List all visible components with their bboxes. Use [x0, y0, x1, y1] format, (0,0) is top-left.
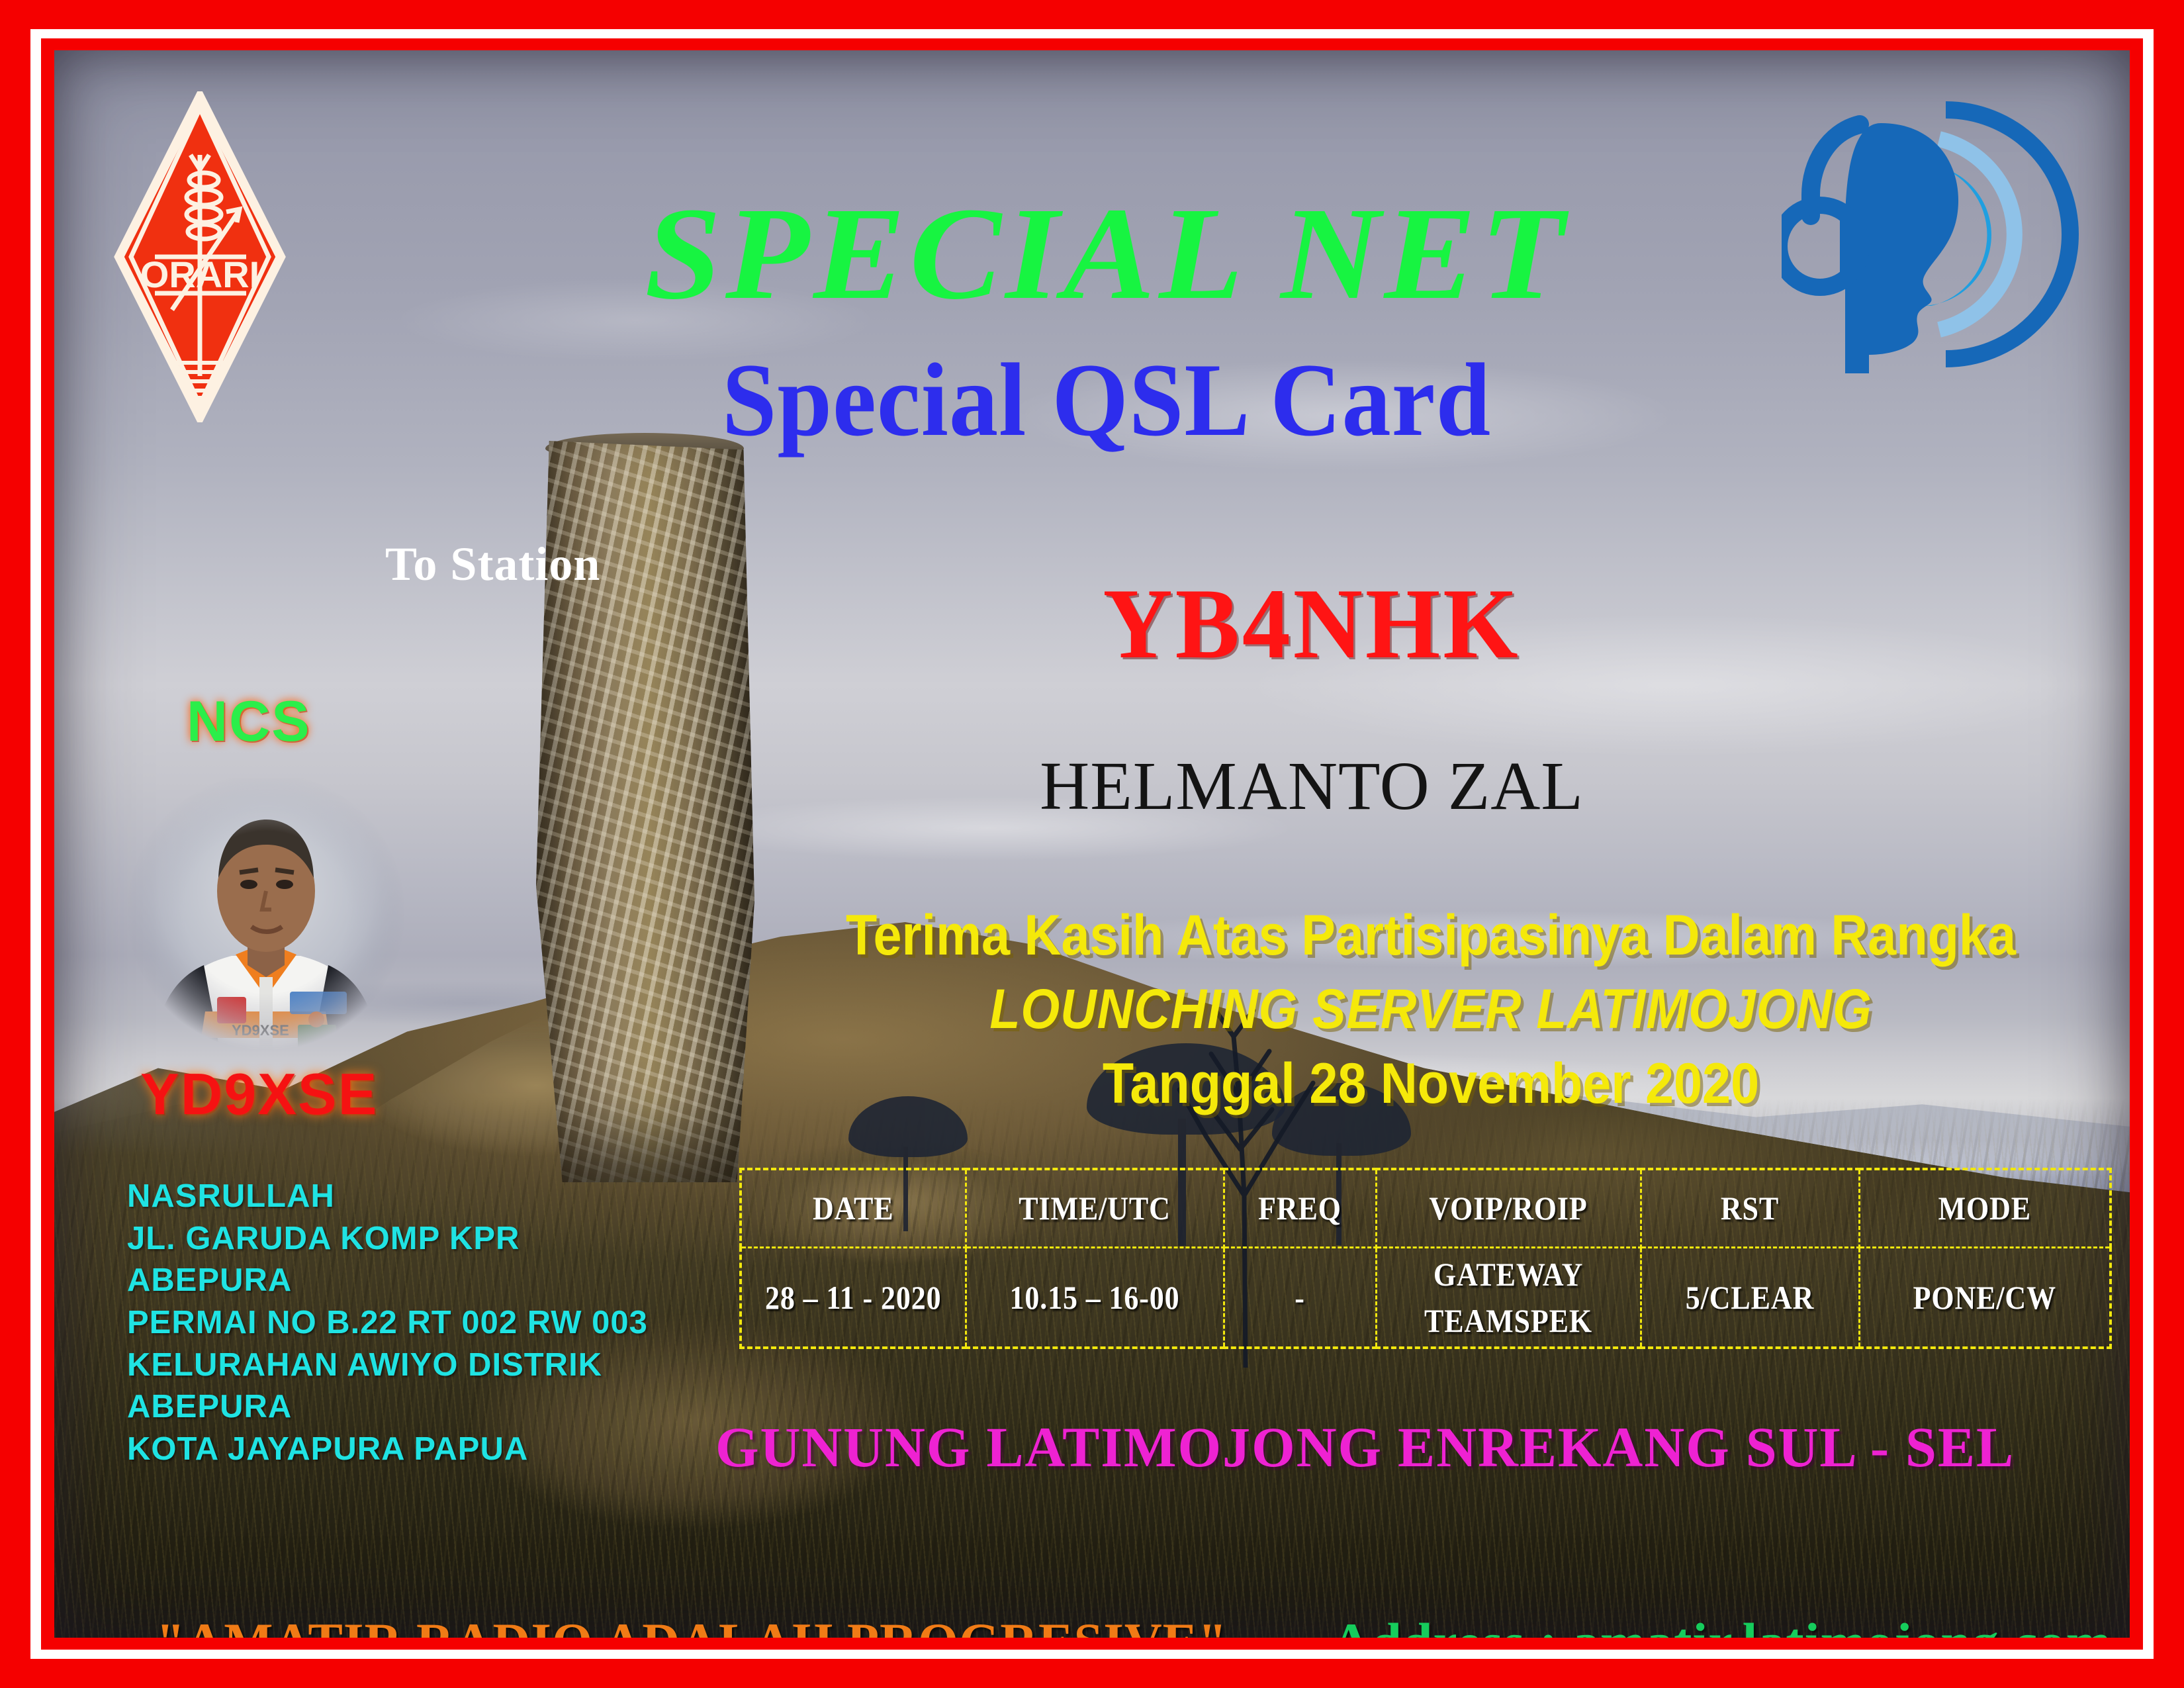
operator-name: HELMANTO ZAL — [848, 752, 1775, 821]
thanks-line-3: Tanggal 28 November 2020 — [811, 1051, 2050, 1117]
qso-log-table: DATE TIME/UTC FREQ VOIP/ROIP RST MODE 28… — [739, 1168, 2112, 1349]
ncs-label: NCS — [187, 689, 311, 755]
address-line: PERMAI NO B.22 RT 002 RW 003 — [127, 1302, 723, 1344]
address-line: JL. GARUDA KOMP KPR — [127, 1218, 723, 1260]
cell-rst: 5/CLEAR — [1654, 1247, 1846, 1348]
thanks-line-2: LOUNCHING SERVER LATIMOJONG — [811, 977, 2050, 1041]
column-header-mode: MODE — [1874, 1169, 2095, 1247]
cell-voip: GATEWAY TEAMSPEK — [1392, 1247, 1625, 1348]
address-line: ABEPURA — [127, 1386, 723, 1429]
address-block: NASRULLAH JL. GARUDA KOMP KPR ABEPURA PE… — [127, 1176, 723, 1471]
table-row: 28 – 11 - 2020 10.15 – 16-00 - GATEWAY T… — [741, 1247, 2111, 1348]
table-header-row: DATE TIME/UTC FREQ VOIP/ROIP RST MODE — [741, 1169, 2111, 1247]
thanks-line-1: Terima Kasih Atas Partisipasinya Dalam R… — [811, 903, 2050, 968]
address-line: KOTA JAYAPURA PAPUA — [127, 1429, 723, 1471]
address-line: KELURAHAN AWIYO DISTRIK — [127, 1344, 723, 1387]
address-line: NASRULLAH — [127, 1176, 723, 1218]
motto-text: "AMATIR RADIO ADALAH PROGRESIVE" — [156, 1611, 1228, 1638]
uniform-callsign-text: YD9XSE — [232, 1022, 289, 1039]
ncs-operator-photo: YD9XSE — [127, 778, 405, 1056]
card-content-overlay: ORARI — [54, 50, 2130, 1638]
cell-freq: - — [1233, 1247, 1367, 1348]
column-header-time: TIME/UTC — [981, 1169, 1208, 1247]
station-callsign: YB4NHK — [867, 573, 1756, 674]
qsl-card: ORARI — [0, 0, 2184, 1688]
cell-date: 28 – 11 - 2020 — [754, 1247, 952, 1348]
column-header-rst: RST — [1654, 1169, 1846, 1247]
ncs-callsign: YD9XSE — [140, 1060, 378, 1128]
broadcast-head-logo — [1782, 95, 2079, 373]
location-text: GUNUNG LATIMOJONG ENREKANG SUL - SEL — [715, 1414, 1948, 1480]
orari-logo: ORARI — [114, 91, 286, 422]
page-title: SPECIAL NET — [453, 188, 1760, 320]
cell-mode: PONE/CW — [1874, 1247, 2095, 1348]
to-station-label: To Station — [385, 537, 600, 592]
address-line: ABEPURA — [127, 1260, 723, 1302]
website-address: Address : amatir.latimojong.com — [1332, 1611, 2112, 1638]
orari-logo-text: ORARI — [140, 254, 259, 295]
column-header-freq: FREQ — [1233, 1169, 1367, 1247]
column-header-voip: VOIP/ROIP — [1392, 1169, 1625, 1247]
page-subtitle: Special QSL Card — [516, 348, 1698, 453]
background-photograph: ORARI — [54, 50, 2130, 1638]
column-header-date: DATE — [754, 1169, 952, 1247]
cell-time: 10.15 – 16-00 — [981, 1247, 1208, 1348]
